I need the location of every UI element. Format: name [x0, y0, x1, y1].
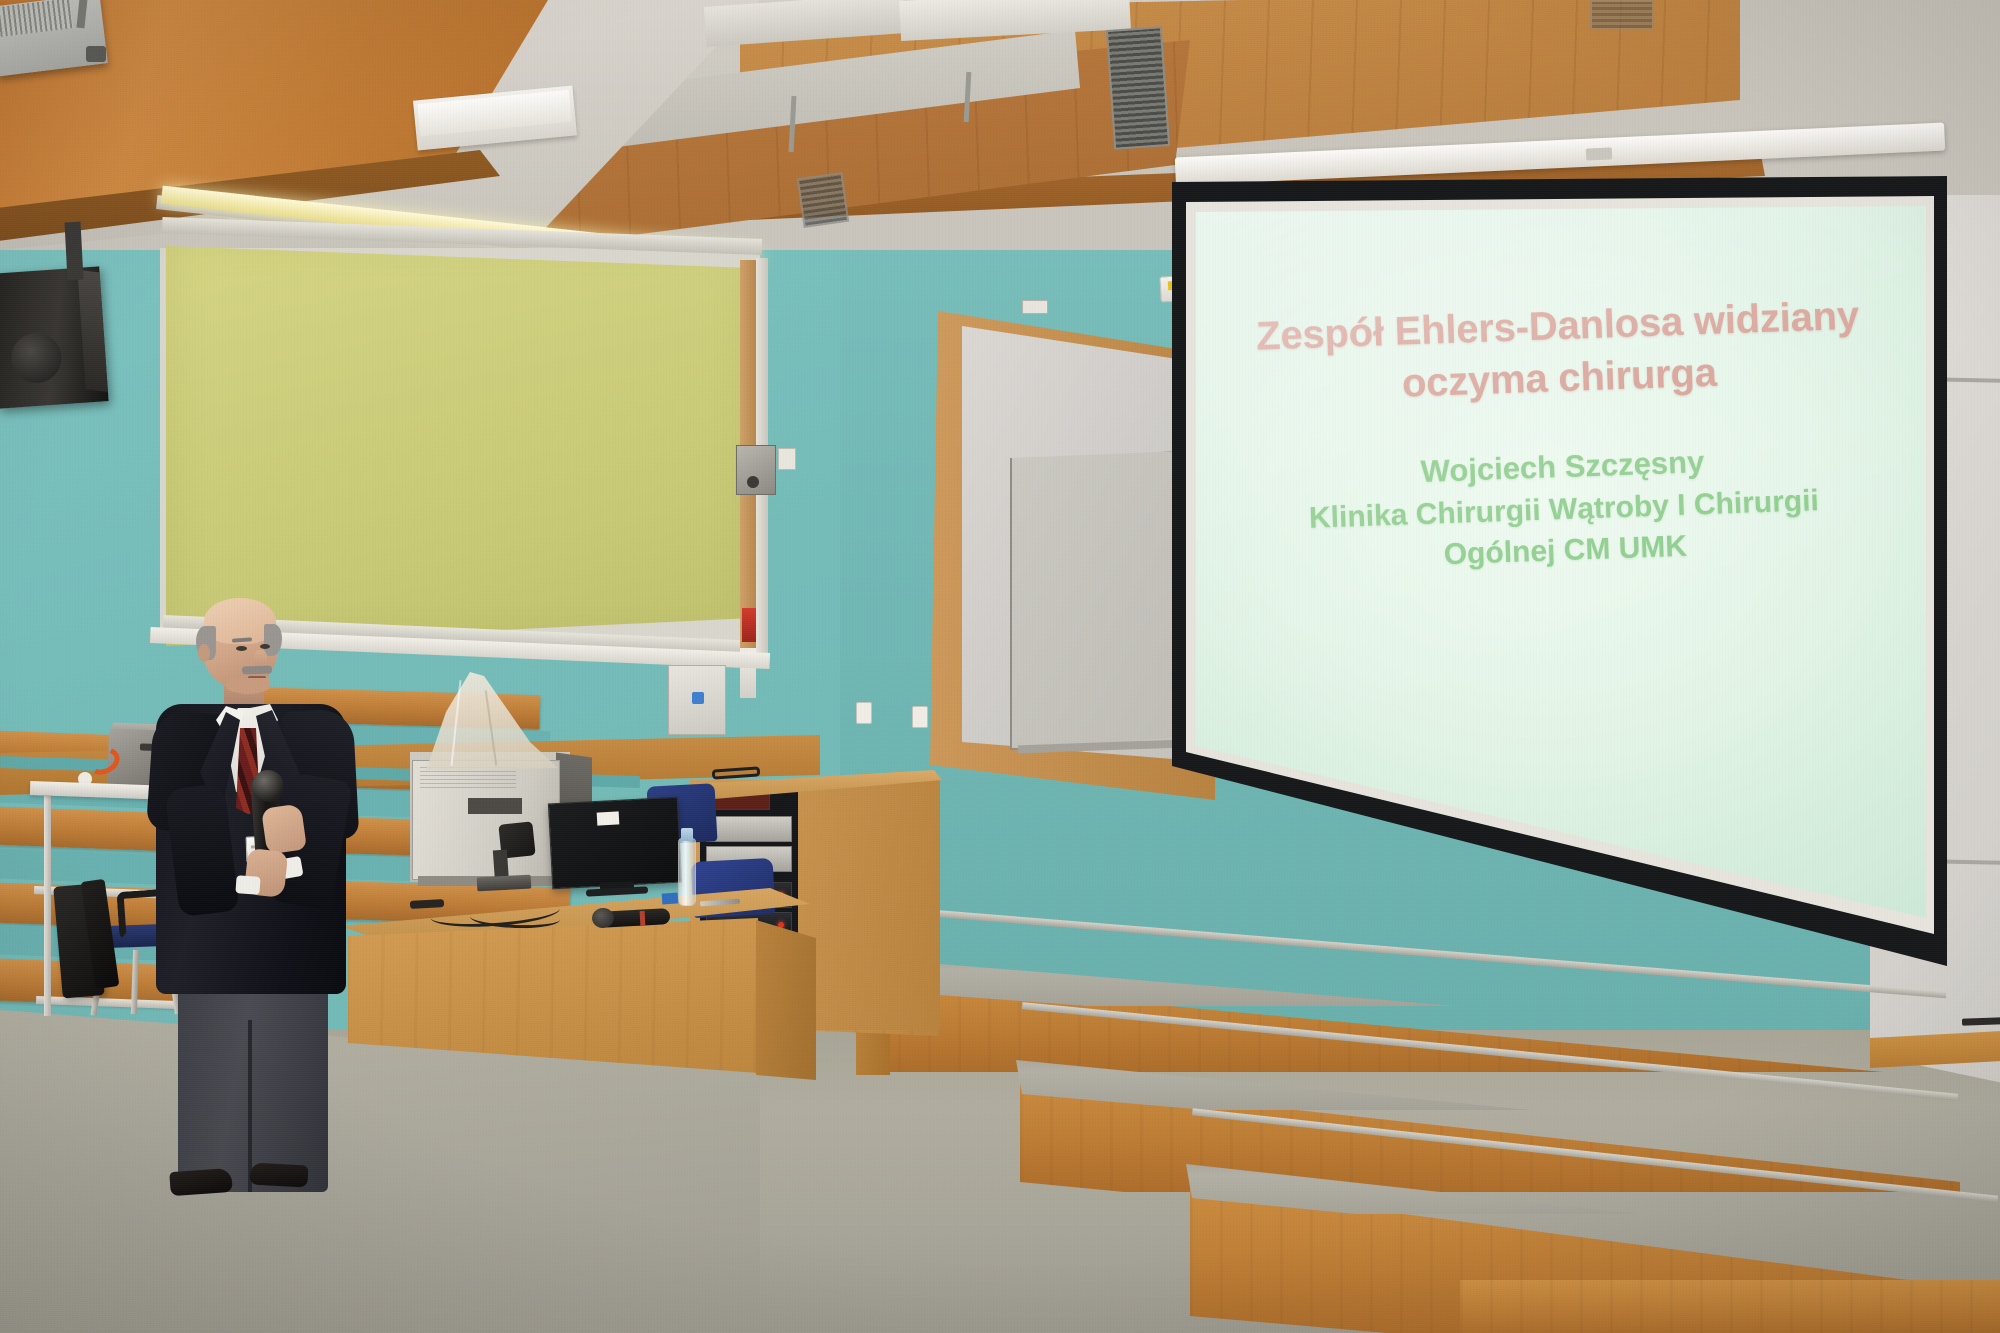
presenter-shoe: [169, 1168, 233, 1196]
speaker-mount-bracket: [64, 222, 83, 281]
desk-object[interactable]: [662, 892, 679, 904]
presenter-leg-seam: [248, 1020, 252, 1192]
fire-alarm-icon[interactable]: [742, 608, 756, 642]
monitor-icon[interactable]: [548, 797, 682, 890]
presenter-hair: [264, 624, 282, 656]
presenter-cuff: [235, 875, 260, 895]
slide-content: Zespół Ehlers-Danlosa widziany oczyma ch…: [1207, 288, 1923, 792]
vent-icon: [797, 172, 850, 228]
roller-end-cap: [1586, 147, 1613, 160]
lecture-hall-photo: Zespół Ehlers-Danlosa widziany oczyma ch…: [0, 0, 2000, 1333]
presenter-chin: [226, 678, 270, 694]
equipment-slot: [468, 798, 522, 814]
projector-lens: [86, 46, 106, 62]
presenter-eye: [260, 644, 270, 649]
outlet-icon[interactable]: [856, 702, 872, 724]
bottle-icon[interactable]: [678, 838, 696, 906]
projector-icon: [0, 0, 108, 76]
camera-base: [477, 875, 532, 892]
table-leg: [44, 796, 51, 1016]
intercom-indicator: [692, 692, 704, 704]
whiteboard-clip: [1022, 300, 1048, 314]
speaker-cone: [10, 331, 63, 384]
bottle-cap: [681, 828, 693, 841]
presenter-eye: [236, 646, 247, 651]
marker-icon[interactable]: [1962, 1017, 2000, 1025]
presenter-moustache: [242, 665, 272, 674]
speaker-at-podium: [150, 600, 380, 1100]
presenter-ear: [198, 644, 210, 662]
presenter-hand: [261, 803, 307, 854]
speaker-icon: [0, 266, 109, 408]
blind-icon[interactable]: [166, 238, 752, 646]
stairs-icon: [1460, 1280, 2000, 1333]
vent-icon: [1590, 0, 1654, 30]
outlet-icon[interactable]: [912, 706, 928, 728]
vent-icon: [1106, 26, 1170, 150]
wall-mounted-device[interactable]: [736, 445, 776, 495]
monitor-label: [597, 811, 620, 825]
projector-vent-grille: [0, 0, 73, 37]
presenter-trousers: [178, 982, 328, 1192]
presenter-shoe: [249, 1162, 308, 1187]
microphone-band: [640, 911, 646, 926]
slide-subtitle: Wojciech Szczęsny Klinika Chirurgii Wątr…: [1212, 434, 1916, 584]
outlet-icon[interactable]: [778, 448, 796, 470]
av-unit-tuner[interactable]: [706, 816, 792, 842]
